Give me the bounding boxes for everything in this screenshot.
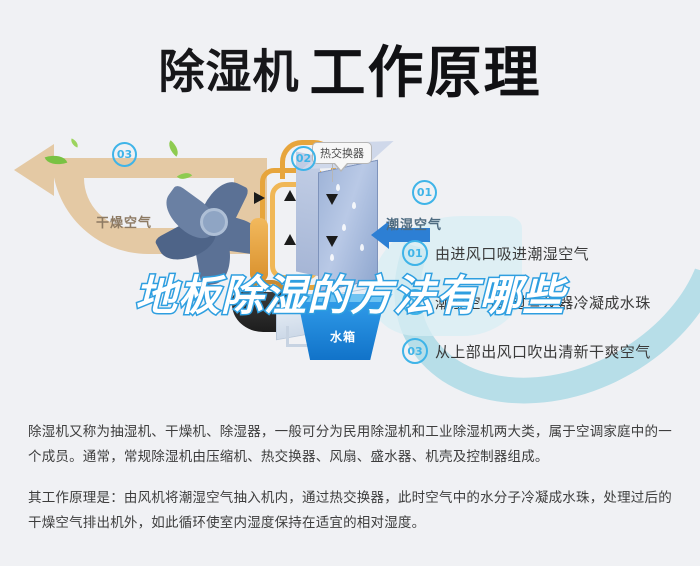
leaf-icon — [69, 138, 80, 147]
heat-exchanger-callout: 热交换器 — [312, 142, 372, 164]
diagram-badge-03: 03 — [112, 142, 137, 167]
fan-hub — [200, 208, 228, 236]
overlay-headline: 地板除湿的方法有哪些 — [0, 262, 700, 323]
humid-air-label: 潮湿空气 — [386, 214, 442, 233]
water-tank-label: 水箱 — [330, 328, 356, 345]
leaf-icon — [165, 140, 182, 157]
dry-air-label: 干燥空气 — [96, 212, 152, 231]
title-part-1: 除湿机 — [159, 45, 300, 99]
flow-arrow-down-icon — [326, 194, 338, 205]
page-title: 除湿机工作原理 — [0, 28, 700, 109]
infographic-page: 除湿机工作原理 干燥空气 — [0, 0, 700, 566]
water-droplet-icon — [336, 184, 340, 191]
flow-arrow-right-icon — [254, 192, 265, 204]
step-number-badge: 03 — [402, 338, 428, 364]
water-droplet-icon — [342, 224, 346, 231]
body-paragraph-2: 其工作原理是：由风机将潮湿空气抽入机内，通过热交换器，此时空气中的水分子冷凝成水… — [28, 486, 676, 536]
list-item: 03 从上部出风口吹出清新干爽空气 — [402, 338, 692, 364]
step-label: 由进风口吸进潮湿空气 — [435, 243, 589, 264]
water-droplet-icon — [352, 202, 356, 209]
water-droplet-icon — [330, 254, 334, 261]
water-droplet-icon — [360, 244, 364, 251]
title-part-2: 工作原理 — [310, 41, 542, 106]
flow-arrow-up-icon — [284, 234, 296, 245]
diagram-badge-02: 02 — [291, 146, 316, 171]
diagram-badge-01: 01 — [412, 180, 437, 205]
body-paragraph-1: 除湿机又称为抽湿机、干燥机、除湿器，一般可分为民用除湿机和工业除湿机两大类，属于… — [28, 420, 676, 470]
step-label: 从上部出风口吹出清新干爽空气 — [435, 341, 651, 362]
flow-arrow-up-icon — [284, 190, 296, 201]
flow-arrow-down-icon — [326, 236, 338, 247]
